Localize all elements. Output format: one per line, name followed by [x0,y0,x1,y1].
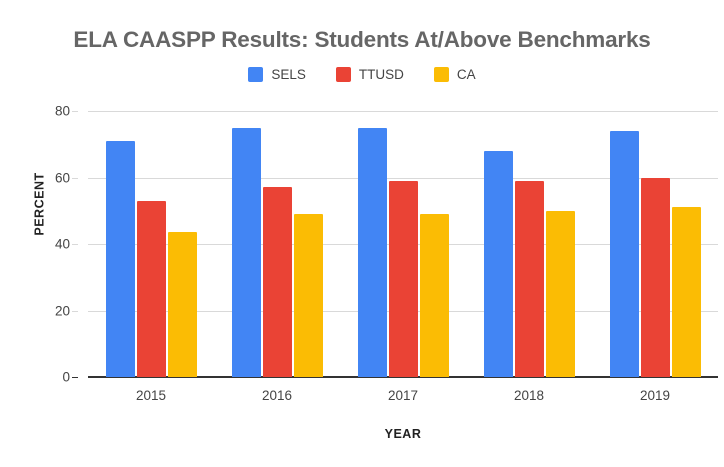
legend-swatch-icon [336,67,351,82]
y-axis-tick-mark [72,244,78,245]
y-axis-tick-label: 20 [55,303,70,318]
y-axis-title: PERCENT [33,172,47,235]
bar-ttusd-2015[interactable] [137,201,166,377]
x-axis-tick-label: 2017 [340,388,466,403]
legend-item-ttusd[interactable]: TTUSD [336,67,404,82]
legend-label: SELS [271,67,306,82]
chart-title: ELA CAASPP Results: Students At/Above Be… [0,27,724,53]
chart-legend: SELSTTUSDCA [0,67,724,82]
legend-label: CA [457,67,476,82]
y-axis-tick-mark [72,377,78,378]
bar-ca-2017[interactable] [420,214,449,377]
bar-ca-2019[interactable] [672,207,701,377]
legend-label: TTUSD [359,67,404,82]
bar-group-2016 [214,111,340,377]
bar-ttusd-2018[interactable] [515,181,544,377]
bar-sels-2015[interactable] [106,141,135,377]
bar-ca-2015[interactable] [168,232,197,377]
x-axis-labels: 20152016201720182019 [88,388,718,403]
bar-ttusd-2016[interactable] [263,187,292,377]
y-axis-ticks: 020406080 [0,111,78,377]
bar-sels-2016[interactable] [232,128,261,377]
bar-groups [88,111,718,377]
bar-ttusd-2017[interactable] [389,181,418,377]
bar-ca-2018[interactable] [546,211,575,377]
legend-item-ca[interactable]: CA [434,67,476,82]
y-axis-tick-label: 0 [62,370,70,385]
y-axis-tick-mark [72,311,78,312]
legend-item-sels[interactable]: SELS [248,67,306,82]
x-axis-tick-label: 2018 [466,388,592,403]
y-axis-tick-label: 40 [55,237,70,252]
bar-group-2018 [466,111,592,377]
bar-sels-2017[interactable] [358,128,387,377]
x-axis-title: YEAR [88,427,718,441]
legend-swatch-icon [434,67,449,82]
x-axis-tick-label: 2016 [214,388,340,403]
x-axis-tick-label: 2015 [88,388,214,403]
bar-sels-2019[interactable] [610,131,639,377]
bar-ttusd-2019[interactable] [641,178,670,378]
bar-sels-2018[interactable] [484,151,513,377]
x-axis-tick-label: 2019 [592,388,718,403]
bar-group-2015 [88,111,214,377]
bar-group-2017 [340,111,466,377]
y-axis-tick-mark [72,178,78,179]
y-axis-tick-mark [72,111,78,112]
legend-swatch-icon [248,67,263,82]
y-axis-tick-label: 80 [55,104,70,119]
chart-container: ELA CAASPP Results: Students At/Above Be… [0,0,724,467]
bar-ca-2016[interactable] [294,214,323,377]
bar-group-2019 [592,111,718,377]
y-axis-tick-label: 60 [55,170,70,185]
